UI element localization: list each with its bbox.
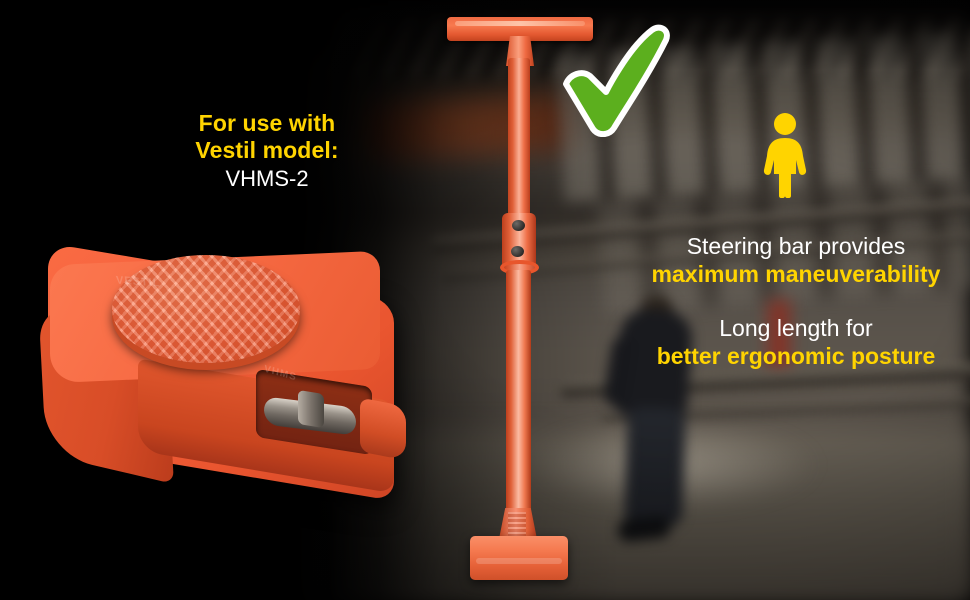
steering-bar-base-shoe (470, 536, 568, 580)
product-banner: For use with Vestil model: VHMS-2 Steeri… (0, 0, 970, 600)
left-copy-line1: For use with (152, 110, 382, 137)
copy-spacer (636, 288, 956, 314)
steering-bar-product (430, 8, 610, 588)
skate-side-tab (360, 398, 406, 461)
right-copy-block: Steering bar provides maximum maneuverab… (636, 232, 956, 370)
skate-swivel-pad (112, 255, 300, 363)
left-copy-model: VHMS-2 (152, 166, 382, 192)
steering-bar-lower-shaft (506, 270, 531, 528)
left-copy-block: For use with Vestil model: VHMS-2 (152, 110, 382, 192)
skate-roller-secondary (298, 390, 324, 428)
steering-bar-upper-shaft (508, 58, 530, 228)
person-pictogram-icon (760, 112, 810, 198)
steering-bar-bolt-upper (512, 220, 525, 231)
steering-bar-bolt-lower (511, 246, 524, 257)
feature1-line2: maximum maneuverability (636, 260, 956, 288)
feature1-line1: Steering bar provides (636, 232, 956, 260)
left-copy-line2: Vestil model: (152, 137, 382, 164)
machinery-skate-product: VESTIL VHMS (42, 252, 426, 494)
feature2-line1: Long length for (636, 314, 956, 342)
feature2-line2: better ergonomic posture (636, 342, 956, 370)
